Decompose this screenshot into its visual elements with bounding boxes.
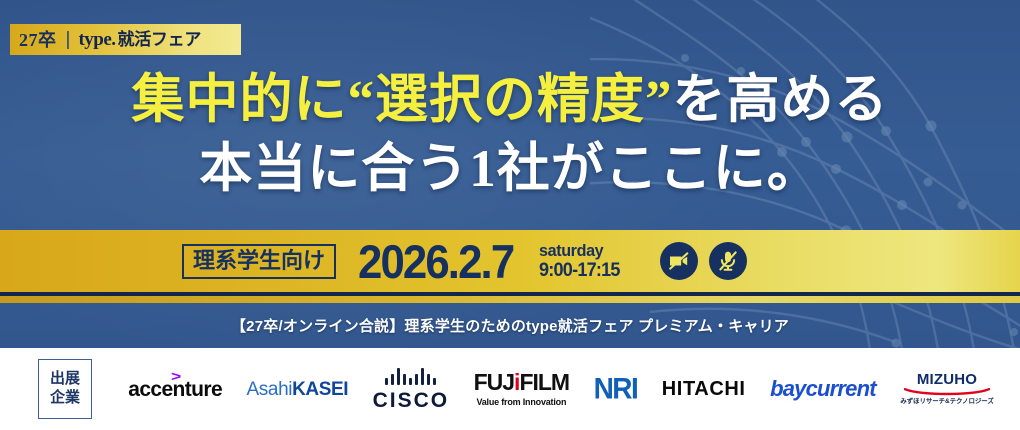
logo-asahi-kasei: AsahiKASEI [247, 380, 349, 399]
headline-line-2: 本当に合う1社がここに。 [0, 143, 1020, 196]
exhibitor-logo-strip: 出展 企業 > accenture AsahiKASEI [0, 348, 1020, 430]
event-time-range: 9:00-17:15 [539, 260, 620, 281]
headline-line-2-text: 本当に合う1社がここに。 [199, 140, 821, 198]
logo-fujifilm: FUJiFILM Value from Innovation [474, 371, 570, 407]
event-banner: 27卒 | type . 就活フェア 集中的に“選択の精度”を高める 本当に合う… [0, 0, 1020, 430]
event-brand-badge: 27卒 | type . 就活フェア [10, 24, 241, 55]
badge-brand-jp: 就活フェア [118, 31, 202, 48]
mizuho-wordmark: MIZUHO [917, 372, 977, 387]
subtitle-text: 【27卒/オンライン合説】理系学生のためのtype就活フェア プレミアム・キャリ… [231, 315, 789, 336]
hitachi-wordmark: HITACHI [662, 379, 746, 399]
date-bar-gold-rule [0, 296, 1020, 303]
fujifilm-tagline: Value from Innovation [476, 398, 566, 407]
camera-off-icon [660, 242, 698, 280]
accenture-arrow-icon: > [171, 369, 180, 383]
date-bar-content: 理系学生向け 2026.2.7 saturday 9:00-17:15 [0, 230, 1020, 292]
headline-line-1: 集中的に“選択の精度”を高める [0, 74, 1020, 127]
exhibitors-label-line-2: 企業 [50, 389, 80, 408]
fujifilm-wordmark-a: FUJ [474, 369, 514, 395]
exhibitors-label-line-1: 出展 [50, 370, 80, 389]
kasei-wordmark: KASEI [292, 379, 348, 400]
logo-baycurrent: baycurrent [770, 378, 876, 400]
badge-grad-year: 27卒 [19, 31, 57, 49]
headline-block: 集中的に“選択の精度”を高める 本当に合う1社がここに。 [0, 74, 1020, 196]
headline-line-1-rest: を高める [673, 71, 889, 129]
logo-nri: NRI [594, 375, 638, 403]
logo-hitachi: HITACHI [662, 379, 746, 399]
event-day-of-week: saturday [539, 241, 620, 260]
badge-brand-type: type [78, 30, 111, 49]
badge-separator: | [66, 30, 71, 49]
headline-line-1-highlight: 集中的に“選択の精度” [132, 71, 673, 129]
exhibitor-logos: > accenture AsahiKASEI CISCO [92, 368, 1020, 411]
exhibitors-label: 出展 企業 [38, 359, 92, 419]
fujifilm-wordmark-b: FILM [519, 369, 569, 395]
badge-brand-dot: . [111, 30, 115, 49]
subtitle-band: 【27卒/オンライン合説】理系学生のためのtype就活フェア プレミアム・キャリ… [0, 303, 1020, 348]
event-date-details: saturday 9:00-17:15 [539, 241, 620, 281]
nri-wordmark: NRI [594, 374, 638, 404]
mizuho-subtext: みずほリサーチ&テクノロジーズ [900, 399, 993, 406]
mizuho-swoosh-icon [904, 388, 990, 397]
microphone-off-icon [709, 242, 747, 280]
event-date: 2026.2.7 [358, 238, 513, 285]
baycurrent-wordmark: baycurrent [770, 378, 876, 400]
logo-accenture: > accenture [128, 379, 222, 400]
logo-mizuho: MIZUHO みずほリサーチ&テクノロジーズ [900, 372, 993, 406]
cisco-wordmark: CISCO [373, 390, 450, 411]
target-audience-chip: 理系学生向け [182, 244, 336, 279]
cisco-bars-icon [385, 368, 436, 385]
logo-cisco: CISCO [373, 368, 450, 411]
asahi-wordmark: Asahi [247, 379, 293, 400]
